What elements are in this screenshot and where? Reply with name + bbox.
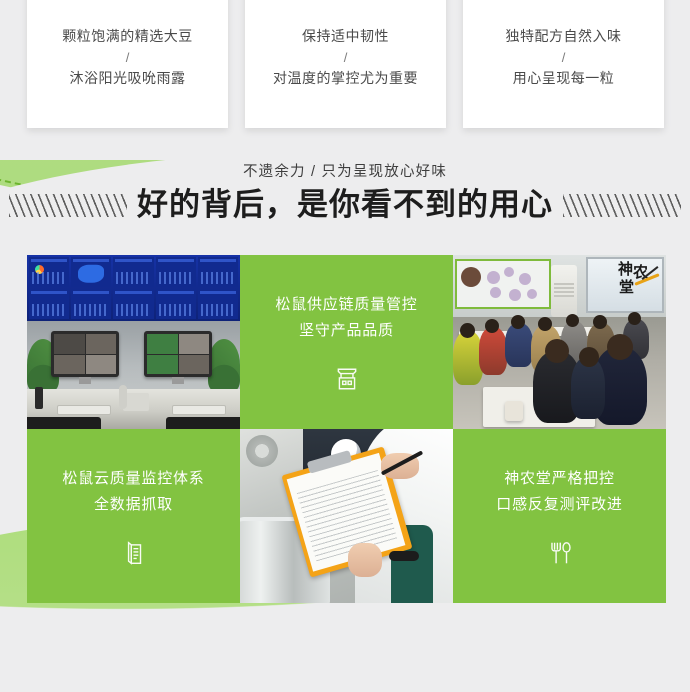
video-wall-cell [113, 289, 153, 319]
quality-tile-grid: 松鼠供应链质量管控 坚守产品品质 [27, 255, 666, 603]
video-wall-cell [29, 289, 69, 319]
logo-char: 堂 [619, 276, 634, 297]
video-wall-cell [156, 289, 196, 319]
video-wall-cell [29, 257, 69, 287]
inspection-photo[interactable] [240, 429, 453, 603]
fork-spoon-icon [547, 540, 573, 566]
portrait-photo [461, 267, 481, 287]
person [505, 323, 533, 367]
video-wall-cell [71, 289, 111, 319]
feature-card-line2: 对温度的掌控尤为重要 [273, 67, 418, 90]
taste-control-line1: 神农堂严格把控 [504, 466, 615, 492]
taste-control-line2: 口感反复测评改进 [496, 492, 622, 518]
feature-card-separator: / [344, 48, 348, 67]
supply-chain-line1: 松鼠供应链质量管控 [275, 292, 417, 318]
inspection-scene [240, 429, 453, 603]
video-wall-cell [156, 257, 196, 287]
feature-card[interactable]: 颗粒饱满的精选大豆 / 沐浴阳光吸吮雨露 [27, 0, 228, 128]
video-wall-cell [198, 289, 238, 319]
chair-right [166, 417, 240, 429]
section-subtitle: 不遗余力 / 只为呈现放心好味 [0, 160, 690, 184]
monitor-screen [147, 334, 209, 374]
cloud-monitor-tile[interactable]: 松鼠云质量监控体系 全数据抓取 [27, 429, 240, 603]
keyboard-right [172, 405, 226, 415]
cloud-monitor-line1: 松鼠云质量监控体系 [62, 466, 204, 492]
bar-chart-icon [116, 304, 150, 316]
bar-chart-icon [159, 272, 193, 284]
video-wall-cell [198, 257, 238, 287]
supply-chain-line2: 坚守产品品质 [299, 318, 394, 344]
hand-holding-clipboard [348, 543, 382, 577]
person-foreground [571, 357, 605, 419]
monitor-screen [54, 334, 116, 374]
video-wall-cell [71, 257, 111, 287]
tasting-room-photo[interactable]: 神 农 堂 [453, 255, 666, 429]
feature-card[interactable]: 独特配方自然入味 / 用心呈现每一粒 [463, 0, 664, 128]
monitor-stand [79, 377, 91, 384]
control-room-interior [27, 321, 240, 429]
video-wall-grid [27, 255, 240, 321]
cloud-monitor-line2: 全数据抓取 [94, 492, 173, 518]
bar-chart-icon [201, 304, 235, 316]
page-title: 好的背后，是你看不到的用心 [137, 185, 553, 225]
chair-left [27, 417, 101, 429]
desk-phone [123, 393, 149, 411]
monitor-right [144, 331, 212, 377]
tasting-room-floor [453, 317, 666, 429]
feature-card-line2: 用心呈现每一粒 [513, 67, 615, 90]
bar-chart-icon [32, 272, 66, 284]
air-conditioner [551, 265, 577, 317]
bar-chart-icon [32, 304, 66, 316]
feature-card-separator: / [126, 48, 130, 67]
feature-card-line1: 颗粒饱满的精选大豆 [62, 25, 193, 48]
feature-card-line1: 保持适中韧性 [302, 25, 389, 48]
bar-chart-icon [116, 272, 150, 284]
bar-chart-icon [201, 272, 235, 284]
keyboard-left [57, 405, 111, 415]
person [479, 327, 507, 375]
section-title-row: 好的背后，是你看不到的用心 [0, 185, 690, 225]
machine-fan [246, 435, 278, 467]
map-icon [78, 265, 104, 283]
walkie-talkie [35, 387, 43, 409]
feature-card[interactable]: 保持适中韧性 / 对温度的掌控尤为重要 [245, 0, 446, 128]
cup [505, 401, 523, 421]
taste-control-tile[interactable]: 神农堂严格把控 口感反复测评改进 [453, 429, 666, 603]
document-icon [121, 540, 147, 566]
plant-right [208, 339, 240, 391]
feature-card-row: 颗粒饱满的精选大豆 / 沐浴阳光吸吮雨露 保持适中韧性 / 对温度的掌控尤为重要… [0, 0, 690, 128]
monitor-left [51, 331, 119, 377]
hatch-left-decoration [9, 194, 127, 217]
factory-icon [334, 366, 360, 392]
bar-chart-icon [74, 304, 108, 316]
feature-card-line2: 沐浴阳光吸吮雨露 [70, 67, 186, 90]
video-wall-cell [113, 257, 153, 287]
control-room-photo[interactable] [27, 255, 240, 429]
page-stage: 颗粒饱满的精选大豆 / 沐浴阳光吸吮雨露 保持适中韧性 / 对温度的掌控尤为重要… [0, 0, 690, 692]
video-wall [27, 255, 240, 321]
presentation-board [455, 259, 551, 309]
supply-chain-tile[interactable]: 松鼠供应链质量管控 坚守产品品质 [240, 255, 453, 429]
section-heading: 不遗余力 / 只为呈现放心好味 好的背后，是你看不到的用心 [0, 160, 690, 225]
shennongtang-logo: 神 农 堂 [616, 258, 662, 300]
monitor-stand [172, 377, 184, 384]
hatch-right-decoration [563, 194, 681, 217]
bar-chart-icon [159, 304, 193, 316]
feature-card-separator: / [562, 48, 566, 67]
feature-card-line1: 独特配方自然入味 [506, 25, 622, 48]
wristwatch [389, 551, 419, 561]
